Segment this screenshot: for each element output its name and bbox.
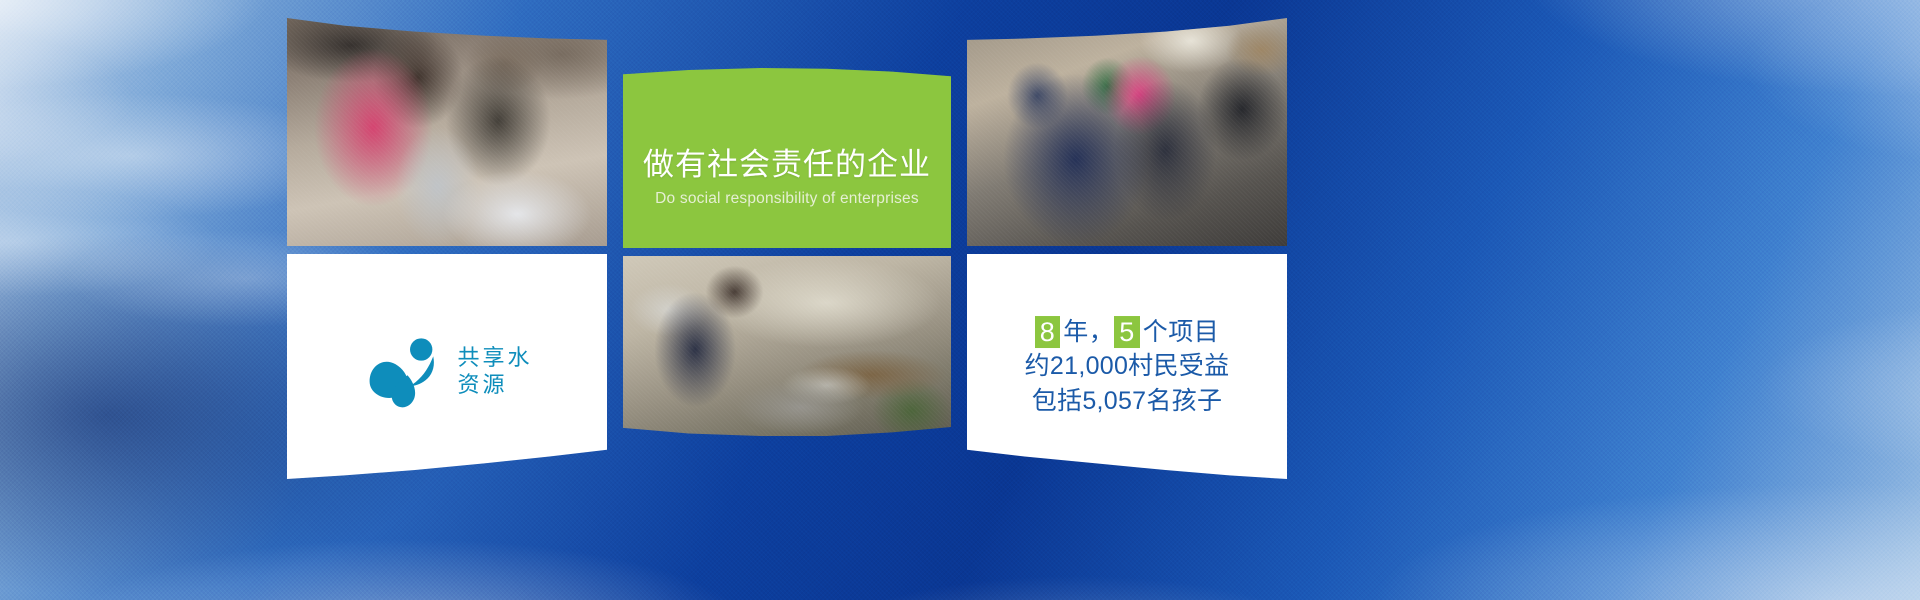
logo-wordmark: 共享水 资源: [457, 344, 532, 399]
grid-gap: [287, 246, 607, 254]
logo-wordmark-line-2: 资源: [457, 371, 532, 399]
stat-years-unit: 年，: [1063, 317, 1114, 347]
green-message-banner[interactable]: 做有社会责任的企业 Do social responsibility of en…: [623, 68, 951, 248]
green-banner-text: 做有社会责任的企业 Do social responsibility of en…: [623, 108, 951, 208]
stats-card[interactable]: 8 年， 5 个项目 约21,000村民受益 包括5,057名孩子: [967, 254, 1287, 479]
stat-years-value: 8: [1035, 316, 1061, 349]
grid-gap: [623, 248, 951, 256]
grid-gap: [967, 246, 1287, 254]
photo-cell-villagers[interactable]: [967, 18, 1287, 246]
banner-headline-cn: 做有社会责任的企业: [623, 148, 951, 183]
man-at-spring-water-source-icon: [623, 256, 951, 436]
logo-card[interactable]: 共享水 资源: [287, 254, 607, 479]
impact-stats: 8 年， 5 个项目 约21,000村民受益 包括5,057名孩子: [967, 316, 1287, 418]
csr-banner-stage: 共享水 资源 做有社会责任的企业 Do social responsibilit…: [0, 0, 1920, 600]
villagers-receiving-supplies-icon: [967, 18, 1287, 246]
water-droplet-figure-icon: [361, 328, 447, 414]
stats-line-1: 8 年， 5 个项目: [975, 316, 1279, 349]
stat-projects-unit: 个项目: [1143, 317, 1220, 347]
photo-cell-children[interactable]: [287, 18, 607, 246]
banner-subhead-en: Do social responsibility of enterprises: [623, 189, 951, 208]
stats-line-3: 包括5,057名孩子: [975, 385, 1279, 418]
collage-column-middle: 做有社会责任的企业 Do social responsibility of en…: [623, 0, 951, 600]
stats-line-2: 约21,000村民受益: [975, 350, 1279, 383]
photo-cell-spring[interactable]: [623, 256, 951, 436]
logo-lockup: 共享水 资源: [287, 328, 607, 414]
stat-projects-value: 5: [1114, 316, 1140, 349]
collage-column-right: 8 年， 5 个项目 约21,000村民受益 包括5,057名孩子: [967, 0, 1287, 600]
collage-column-left: 共享水 资源: [287, 0, 607, 600]
photo-collage: 共享水 资源 做有社会责任的企业 Do social responsibilit…: [287, 0, 1287, 600]
logo-wordmark-line-1: 共享水: [457, 344, 532, 372]
children-washing-hands-at-tap-icon: [287, 18, 607, 246]
